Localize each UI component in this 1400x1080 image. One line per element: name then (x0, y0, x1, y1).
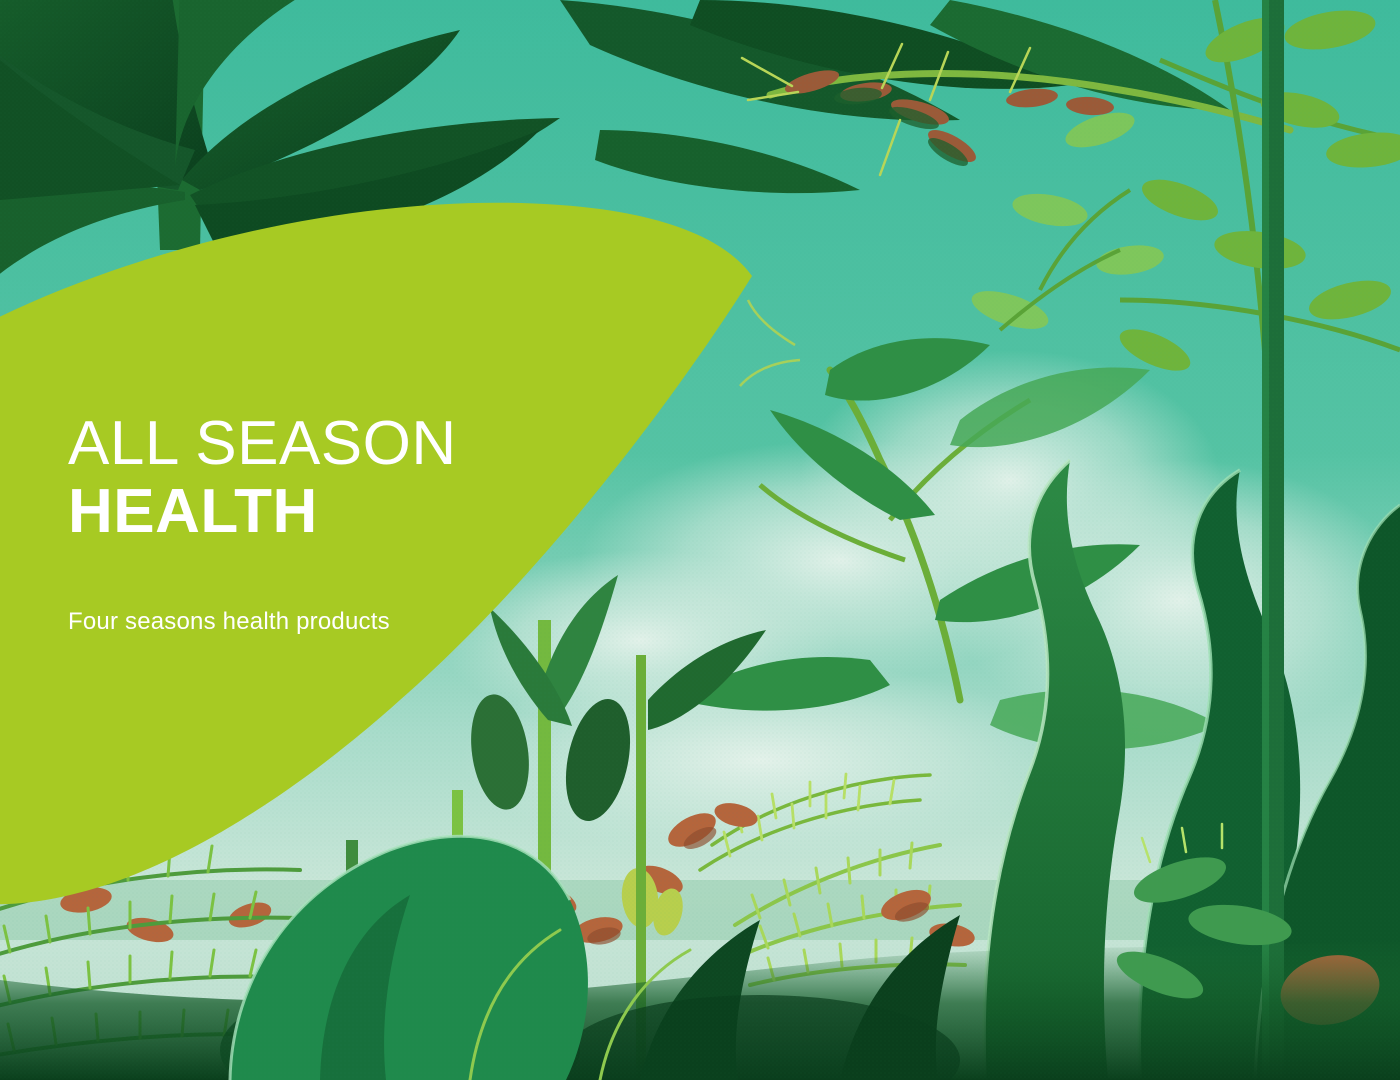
leaf-panel-path (0, 203, 752, 905)
leaf-panel-shape (0, 0, 1400, 1080)
promo-banner: ALL SEASON HEALTH Four seasons health pr… (0, 0, 1400, 1080)
